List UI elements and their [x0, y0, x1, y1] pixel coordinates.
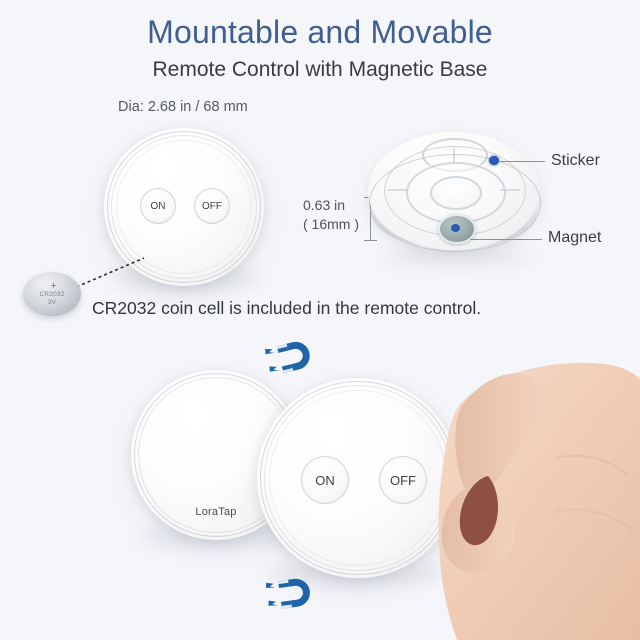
hand-icon — [404, 340, 640, 640]
height-annotation-inches: 0.63 in — [303, 196, 359, 215]
bezel-ring-inner — [116, 140, 252, 274]
height-annotation-mm: ( 16mm ) — [303, 215, 359, 234]
sticker-callout-label: Sticker — [551, 152, 600, 170]
diameter-annotation: Dia: 2.68 in / 68 mm — [118, 99, 248, 115]
off-button-top[interactable]: OFF — [194, 188, 230, 224]
magnet-callout-label: Magnet — [548, 229, 601, 247]
coin-cell-voltage: 3V — [23, 299, 81, 307]
page-subtitle: Remote Control with Magnetic Base — [0, 58, 640, 82]
cr2032-coin-cell-icon: + CR2032 3V — [23, 272, 81, 324]
coin-cell-body: + CR2032 3V — [23, 272, 81, 316]
sticker-leader-line — [500, 161, 545, 162]
magnetic-base-view — [368, 132, 540, 264]
magnet-icon-top — [258, 336, 316, 380]
on-button-held[interactable]: ON — [301, 456, 349, 504]
coin-cell-model: CR2032 — [23, 291, 81, 299]
sticker-callout-dot-icon — [489, 156, 498, 165]
on-button-top[interactable]: ON — [140, 188, 176, 224]
page-title: Mountable and Movable — [0, 14, 640, 51]
battery-caption: CR2032 coin cell is included in the remo… — [92, 298, 481, 319]
height-annotation: 0.63 in ( 16mm ) — [303, 196, 359, 234]
magnet-icon-bottom — [258, 572, 316, 616]
product-infographic: Mountable and Movable Remote Control wit… — [0, 0, 640, 640]
magnet-leader-line — [470, 239, 542, 240]
coin-cell-polarity-mark: + — [49, 282, 58, 291]
